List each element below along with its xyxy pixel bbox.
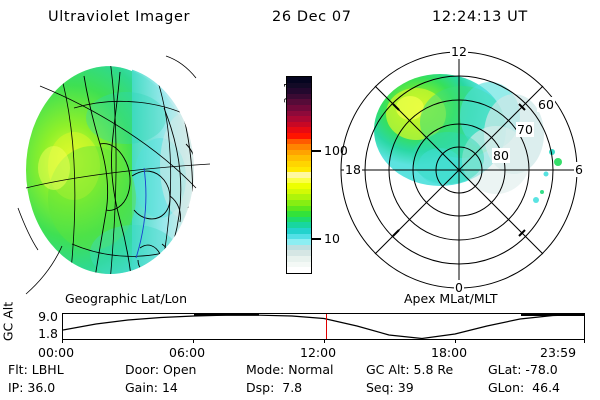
colorbar-gradient (286, 76, 312, 274)
strip-xtick-2359 (584, 340, 585, 343)
orbit-altitude-trace (63, 314, 584, 339)
geographic-image-panel[interactable] (14, 48, 240, 296)
mlt-label-6: 6 (574, 162, 584, 177)
strip-xlabel-0000: 00:00 (38, 345, 74, 360)
polar-dial-svg (336, 42, 588, 296)
strip-xlabel-1800: 18:00 (431, 345, 467, 360)
strip-xtick-0000 (62, 340, 63, 343)
status-mode: Mode: Normal (246, 362, 334, 377)
status-ip: IP: 36.0 (8, 380, 55, 395)
strip-xtick-1200 (324, 340, 325, 343)
status-ip-label: IP: (8, 380, 23, 395)
status-glon-value: 46.4 (532, 380, 560, 395)
status-dsp-value: 7.8 (282, 380, 302, 395)
status-dsp-label: Dsp: (246, 380, 274, 395)
colorbar-tick-100 (311, 150, 321, 152)
status-gain: Gain: 14 (125, 380, 178, 395)
status-door-value: Open (163, 362, 196, 377)
status-door-label: Door: (125, 362, 159, 377)
strip-xtick-1800 (455, 340, 456, 343)
strip-xtick-0600 (193, 340, 194, 343)
colorbar-tick-10 (311, 238, 321, 240)
status-gain-value: 14 (162, 380, 178, 395)
strip-ytick-low: 1.8 (28, 326, 58, 341)
mlt-label-18: 18 (344, 162, 362, 177)
status-gcalt-value: 5.8 Re (414, 362, 454, 377)
status-gcalt: GC Alt: 5.8 Re (366, 362, 453, 377)
status-gcalt-label: GC Alt: (366, 362, 410, 377)
globe-svg (14, 48, 240, 296)
earth-disk-image[interactable] (14, 48, 240, 296)
status-glat: GLat: -78.0 (488, 362, 558, 377)
status-glat-label: GLat: (488, 362, 521, 377)
observation-date: 26 Dec 07 (272, 9, 352, 25)
instrument-title: Ultraviolet Imager (48, 9, 190, 25)
current-time-cursor[interactable] (326, 314, 327, 339)
status-gain-label: Gain: (125, 380, 158, 395)
status-flt: Flt: LBHL (8, 362, 64, 377)
strip-xlabel-0600: 06:00 (169, 345, 205, 360)
status-flt-label: Flt: (8, 362, 28, 377)
colorbar-band-34 (287, 267, 311, 273)
observation-time: 12:24:13 UT (432, 9, 528, 25)
status-grid: Flt: LBHL Door: Open Mode: Normal GC Alt… (0, 362, 600, 400)
mlat-label-60: 60 (537, 97, 555, 112)
status-door: Door: Open (125, 362, 196, 377)
status-ip-value: 36.0 (27, 380, 55, 395)
strip-plot-box[interactable] (62, 313, 585, 340)
altitude-strip-panel[interactable]: GC Alt 9.0 1.8 (0, 304, 600, 350)
mlt-label-12: 12 (450, 44, 468, 59)
strip-xlabel-2359: 23:59 (540, 345, 576, 360)
status-glon: GLon: 46.4 (488, 380, 560, 395)
strip-ytick-high: 9.0 (28, 309, 58, 324)
status-seq-value: 39 (398, 380, 414, 395)
status-glat-value: -78.0 (525, 362, 557, 377)
status-glon-label: GLon: (488, 380, 524, 395)
mlat-label-70: 70 (516, 122, 534, 137)
mlat-label-80: 80 (492, 148, 510, 163)
status-flt-value: LBHL (32, 362, 64, 377)
status-mode-value: Normal (288, 362, 333, 377)
strip-y-axis-label: GC Alt (1, 300, 16, 344)
status-mode-label: Mode: (246, 362, 284, 377)
status-seq: Seq: 39 (366, 380, 414, 395)
header-bar: Ultraviolet Imager 26 Dec 07 12:24:13 UT (0, 6, 600, 32)
apex-polar-panel[interactable]: 12 18 6 0 60 70 80 (336, 42, 588, 296)
status-seq-label: Seq: (366, 380, 394, 395)
status-dsp: Dsp: 7.8 (246, 380, 302, 395)
strip-xlabel-1200: 12:00 (300, 345, 336, 360)
